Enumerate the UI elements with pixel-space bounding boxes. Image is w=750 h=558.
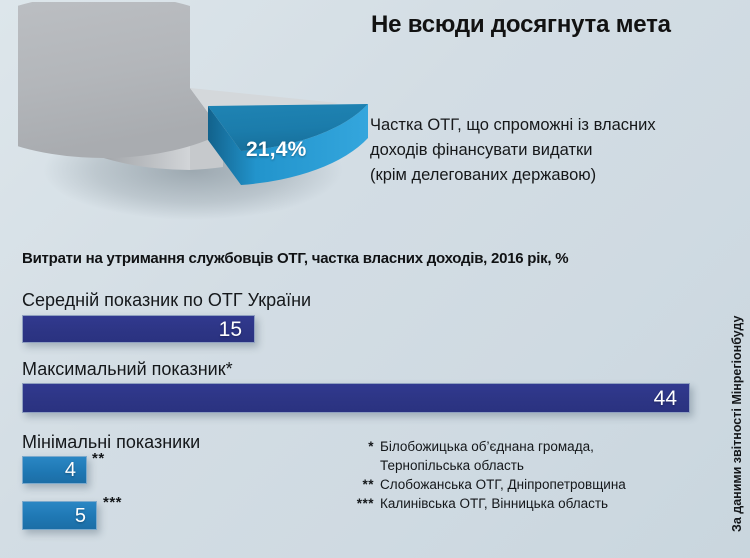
pie-slice-rest-top xyxy=(18,2,223,158)
bar-label-maximum: Максимальний показник* xyxy=(22,359,233,380)
bar-label-average: Середній показник по ОТГ України xyxy=(22,290,311,311)
source-credit: За даними звітності Мінрегіонбуду xyxy=(730,272,744,532)
pie-chart-svg xyxy=(18,2,368,222)
footnote-text: Білобожицька об’єднана громада, Тернопіл… xyxy=(380,437,680,475)
infographic-canvas: 21,4% Не всюди досягнута мета Частка ОТГ… xyxy=(0,0,750,558)
footnote-mark: ** xyxy=(340,475,380,494)
bar-average: 15 xyxy=(22,315,255,343)
bar-minimum-1-value: 4 xyxy=(65,460,86,480)
pie-description-line-1: Частка ОТГ, що спроможні із власних xyxy=(370,113,740,138)
bar-chart-title: Витрати на утримання службовців ОТГ, час… xyxy=(22,250,568,267)
footnote-text-main: Слобожанська ОТГ, Дніпропетровщина xyxy=(380,477,626,492)
footnote-text-main: Калинівська ОТГ, Вінницька область xyxy=(380,496,608,511)
bar-minimum-2: 5 xyxy=(22,501,97,530)
pie-description-line-2: доходів фінансувати видатки xyxy=(370,138,740,163)
bar-average-value: 15 xyxy=(219,319,254,340)
footnote-item: ** Слобожанська ОТГ, Дніпропетровщина xyxy=(340,475,680,494)
footnote-text-cont: Тернопільська область xyxy=(380,456,680,475)
bar-minimum-2-footnote-mark: *** xyxy=(103,494,122,511)
footnotes: * Білобожицька об’єднана громада, Терноп… xyxy=(340,437,680,513)
bar-maximum-value: 44 xyxy=(654,388,689,409)
footnote-text-main: Білобожицька об’єднана громада, xyxy=(380,439,594,454)
pie-slice-value-label: 21,4% xyxy=(246,138,307,162)
pie-chart: 21,4% xyxy=(18,2,368,222)
bar-minimum-1: 4 xyxy=(22,456,87,484)
bar-minimum-1-footnote-mark: ** xyxy=(92,450,105,467)
footnote-item: *** Калинівська ОТГ, Вінницька область xyxy=(340,494,680,513)
footnote-text: Слобожанська ОТГ, Дніпропетровщина xyxy=(380,475,680,494)
page-title: Не всюди досягнута мета xyxy=(371,11,671,39)
footnote-text: Калинівська ОТГ, Вінницька область xyxy=(380,494,680,513)
footnote-item: * Білобожицька об’єднана громада, Терноп… xyxy=(340,437,680,475)
bar-label-minimum-group: Мінімальні показники xyxy=(22,432,200,453)
pie-description-line-3: (крім делегованих державою) xyxy=(370,163,740,188)
pie-description: Частка ОТГ, що спроможні із власних дохо… xyxy=(370,113,740,188)
bar-maximum: 44 xyxy=(22,383,690,413)
footnote-mark: * xyxy=(340,437,380,456)
bar-minimum-2-value: 5 xyxy=(75,506,96,526)
footnote-mark: *** xyxy=(340,494,380,513)
